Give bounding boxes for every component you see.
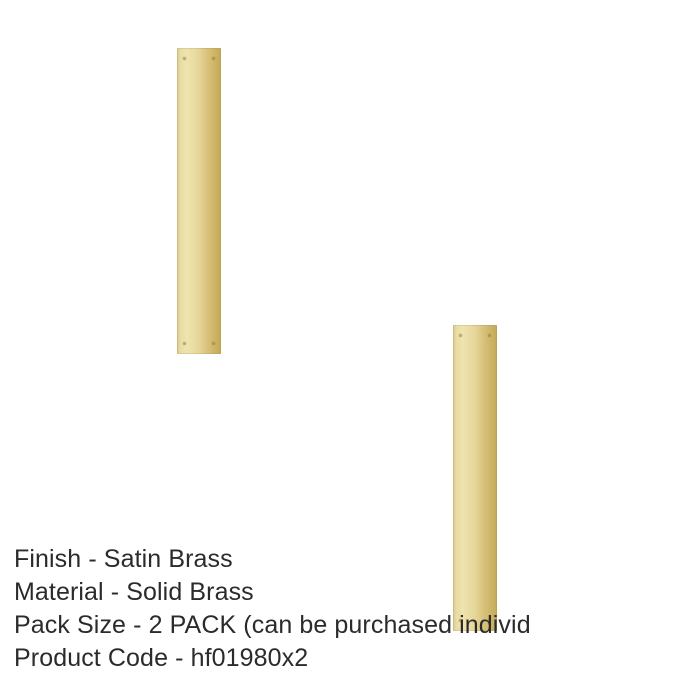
spec-line-finish: Finish - Satin Brass [14,543,700,576]
finger-plate-upper-left [177,48,221,354]
product-image-stage: Finish - Satin Brass Material - Solid Br… [0,0,700,700]
spec-line-pack-size: Pack Size - 2 PACK (can be purchased ind… [14,609,700,642]
spec-line-material: Material - Solid Brass [14,576,700,609]
screw-hole-icon [212,57,215,60]
screw-hole-icon [183,57,186,60]
brass-plate-face [177,48,221,354]
spec-line-product-code: Product Code - hf01980x2 [14,642,700,675]
screw-hole-icon [488,334,491,337]
screw-hole-icon [212,342,215,345]
product-spec-caption: Finish - Satin Brass Material - Solid Br… [14,543,700,675]
screw-hole-icon [183,342,186,345]
screw-hole-icon [459,334,462,337]
